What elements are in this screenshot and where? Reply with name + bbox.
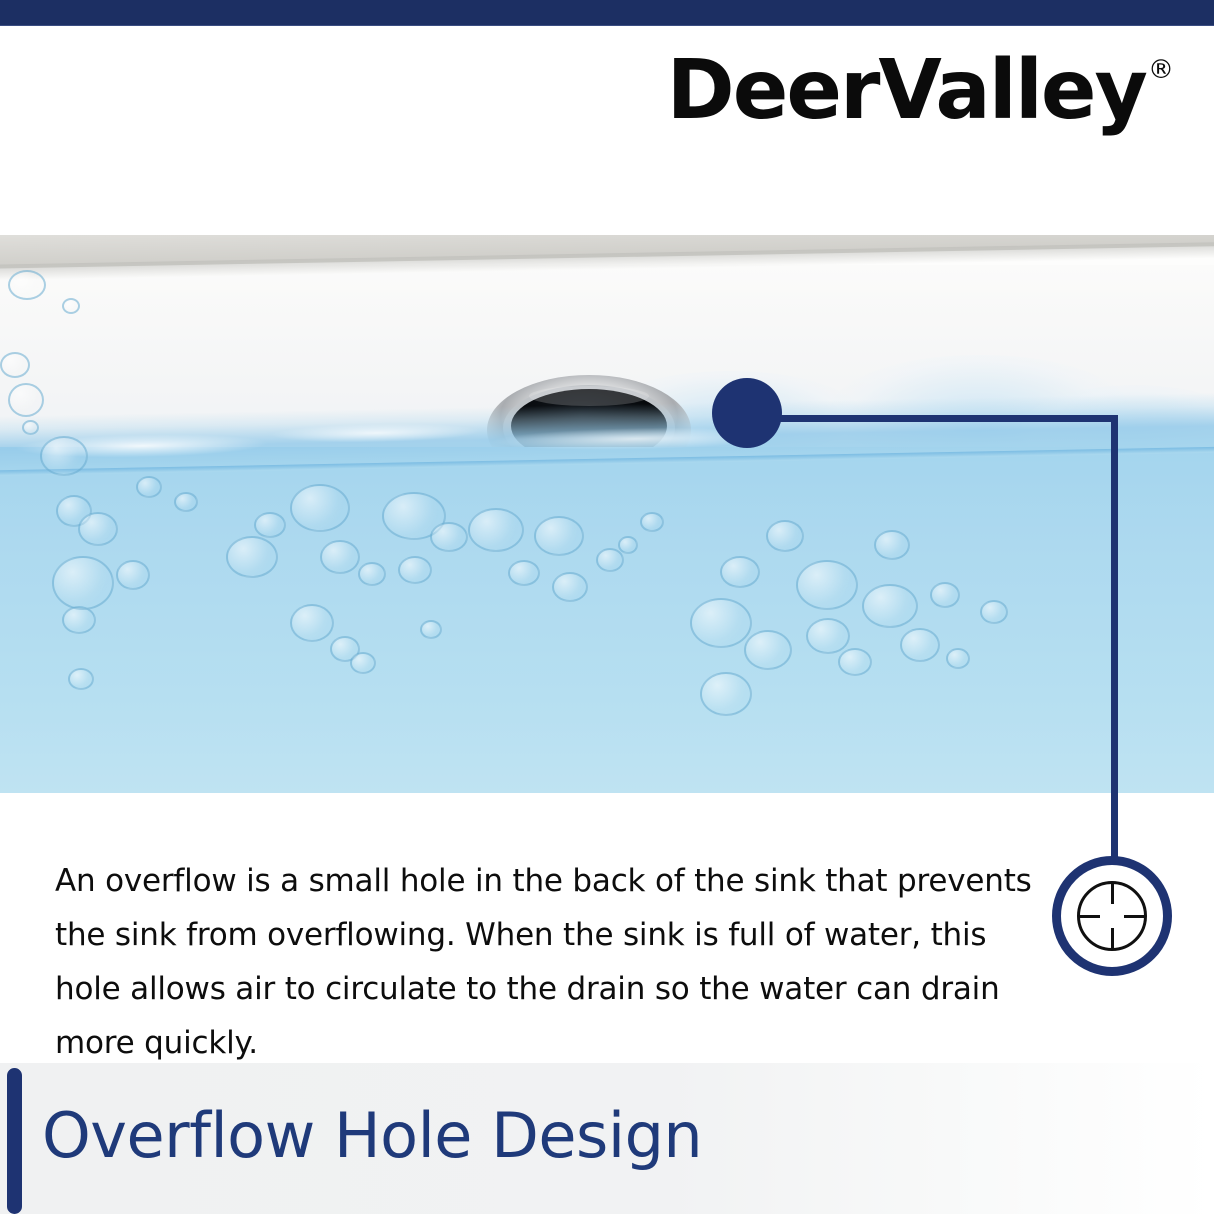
crosshair-tick-right (1124, 915, 1144, 918)
registered-trademark-icon: ® (1148, 57, 1174, 83)
callout-line-horizontal (770, 415, 1118, 422)
bubble (640, 512, 664, 532)
bubble (290, 604, 334, 642)
bubble (862, 584, 918, 628)
bubble (720, 556, 760, 588)
bubble (618, 536, 638, 554)
bubble (690, 598, 752, 648)
bubble (226, 536, 278, 578)
bubble (946, 648, 970, 669)
brand-name: DeerValley (667, 45, 1146, 137)
bubble (838, 648, 872, 676)
bubble (806, 618, 850, 654)
callout-line-vertical (1111, 415, 1118, 862)
product-infographic: DeerValley ® (0, 0, 1214, 1214)
bubble (468, 508, 524, 552)
bubble (174, 492, 198, 512)
bubble (78, 512, 118, 546)
bubble (796, 560, 858, 610)
product-photo (0, 235, 1214, 793)
bubble (930, 582, 960, 608)
bubble (52, 556, 114, 610)
bubble (508, 560, 540, 586)
crosshair-icon (1077, 881, 1147, 951)
bubble (0, 352, 30, 378)
crosshair-tick-left (1080, 915, 1100, 918)
bubble (596, 548, 624, 572)
bubble (290, 484, 350, 532)
bubble (350, 652, 376, 674)
bubble (358, 562, 386, 586)
bubble (62, 606, 96, 634)
bubble (136, 476, 162, 498)
bubble (766, 520, 804, 552)
callout-dot-icon (712, 378, 782, 448)
description-text: An overflow is a small hole in the back … (55, 854, 1055, 1070)
bubble (744, 630, 792, 670)
top-accent-bar (0, 0, 1214, 26)
bubble (874, 530, 910, 560)
bubble (8, 270, 46, 300)
bubble (552, 572, 588, 602)
bubble (116, 560, 150, 590)
banner-title: Overflow Hole Design (42, 1098, 702, 1174)
bubble (430, 522, 468, 552)
bubble (980, 600, 1008, 624)
bubble (900, 628, 940, 662)
bubble (22, 420, 39, 435)
bubble (320, 540, 360, 574)
bubble (534, 516, 584, 556)
banner-accent-bar (7, 1068, 22, 1214)
bubble (420, 620, 442, 639)
bubble (254, 512, 286, 538)
bubble (398, 556, 432, 584)
bubble (40, 436, 88, 476)
crosshair-tick-bottom (1111, 928, 1114, 948)
bubble (8, 383, 44, 417)
bubble (68, 668, 94, 690)
bubble (62, 298, 80, 314)
crosshair-tick-top (1111, 884, 1114, 904)
bubble (700, 672, 752, 716)
brand-logo: DeerValley ® (667, 45, 1174, 145)
